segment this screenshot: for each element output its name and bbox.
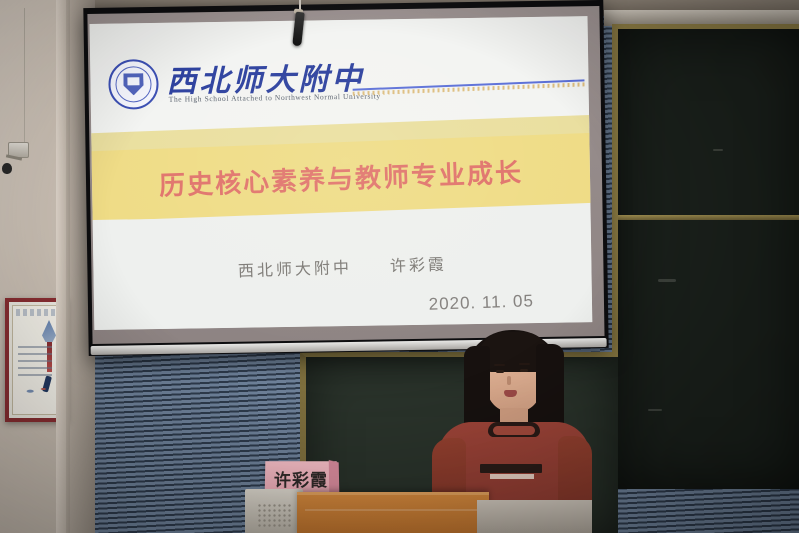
chalk-mark: [648, 409, 662, 411]
poster-ink-illustration: [42, 320, 56, 342]
poster-inner: [12, 305, 61, 415]
presenter-brow-right: [519, 363, 530, 365]
sweater-graphic: [480, 464, 542, 473]
school-emblem-icon: [108, 59, 159, 110]
name-card-text: 许彩霞: [265, 466, 338, 491]
podium-equipment-right: [477, 500, 592, 533]
blackboard-right: [612, 24, 799, 489]
wooden-lectern: [297, 492, 489, 533]
poster-header-band: [16, 309, 57, 316]
chalk-mark: [713, 149, 723, 151]
slide-body: 西北师大附中 许彩霞 2020. 11. 05: [93, 212, 593, 330]
slide-presenter-line: 西北师大附中 许彩霞: [93, 246, 592, 286]
presenter-mouth: [504, 390, 517, 397]
presenter-brow-left: [494, 364, 505, 366]
speaker-grill: [257, 503, 291, 527]
presenter-nose: [507, 376, 511, 385]
poster-text-lines: [18, 346, 52, 378]
poster-bottom-illustration: [17, 378, 61, 400]
slide-school-name-en: The High School Attached to Northwest No…: [169, 91, 381, 103]
podium-equipment-left: [245, 489, 303, 533]
emblem-crest: [123, 73, 143, 95]
wall-wire: [24, 8, 25, 144]
security-camera-icon: [2, 163, 12, 174]
classroom-photo: 西北师大附中 The High School Attached to North…: [0, 0, 799, 533]
chalk-mark: [658, 279, 676, 282]
presenter-collar: [488, 422, 540, 437]
slide-date: 2020. 11. 05: [94, 291, 534, 326]
projection-screen: 西北师大附中 The High School Attached to North…: [83, 0, 608, 356]
presenter-eye-left: [496, 370, 504, 373]
presenter-eye-right: [520, 369, 528, 372]
presentation-slide: 西北师大附中 The High School Attached to North…: [90, 16, 593, 330]
